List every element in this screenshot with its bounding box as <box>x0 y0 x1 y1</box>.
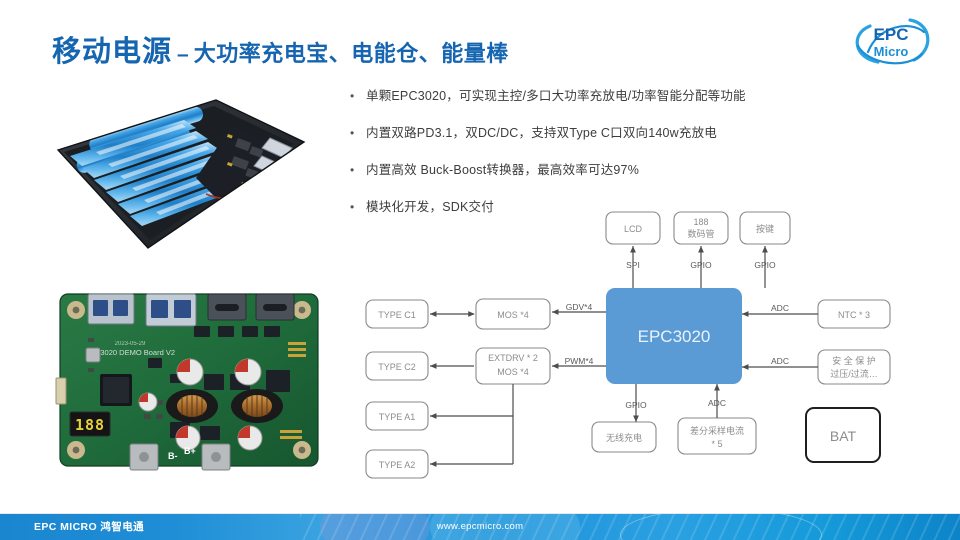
logo-text-epc: EPC <box>874 25 909 44</box>
block-label-current-line2: * 5 <box>711 439 722 449</box>
block-label-type-a1: TYPE A1 <box>379 412 416 422</box>
signal-label-gdv: GDV*4 <box>566 302 593 312</box>
signal-label-gpio-wireless: GPIO <box>625 400 647 410</box>
epc-micro-logo: EPC Micro <box>844 12 938 72</box>
pcb-segment-display-value: 188 <box>75 416 105 434</box>
block-label-extdrv-line1: EXTDRV * 2 <box>488 353 538 363</box>
slide-root: 移动电源–大功率充电宝、电能仓、能量棒 EPC Micro • 单颗EPC302… <box>0 0 960 540</box>
page-title-dash: – <box>172 43 194 67</box>
block-label-seg-line1: 188 <box>693 217 708 227</box>
page-title: 移动电源–大功率充电宝、电能仓、能量棒 <box>52 28 509 70</box>
block-label-bat: BAT <box>830 428 857 444</box>
signal-label-gpio-keys: GPIO <box>754 260 776 270</box>
bullet-marker: • <box>348 125 366 142</box>
block-label-type-a2: TYPE A2 <box>379 460 416 470</box>
demo-board-photo: 2023-05-29 EPC3020 DEMO Board V2 <box>52 282 332 480</box>
block-label-seg-line2: 数码管 <box>687 228 714 239</box>
pcb-silkscreen-date: 2023-05-29 <box>115 341 146 347</box>
bullet-text: 单颗EPC3020，可实现主控/多口大功率充放电/功率智能分配等功能 <box>366 88 746 105</box>
page-title-main: 移动电源 <box>52 28 172 70</box>
pcb-terminal-bminus: B- <box>168 451 178 461</box>
block-label-protect-line1: 安 全 保 护 <box>832 355 876 366</box>
block-label-ntc: NTC * 3 <box>838 310 870 320</box>
list-item: • 内置高效 Buck-Boost转换器，最高效率可达97% <box>348 162 868 179</box>
block-label-type-c2: TYPE C2 <box>378 362 416 372</box>
list-item: • 内置双路PD3.1，双DC/DC，支持双Type C口双向140w充放电 <box>348 125 868 142</box>
system-block-diagram: SPI GPIO GPIO GDV*4 PWM*4 ADC ADC GPIO A… <box>348 200 928 490</box>
block-label-protect-line2: 过压/过流… <box>830 368 878 379</box>
logo-text-micro: Micro <box>874 44 909 59</box>
block-label-epc3020: EPC3020 <box>638 327 711 346</box>
footer-website-url[interactable]: www.epcmicro.com <box>0 514 960 540</box>
block-label-type-c1: TYPE C1 <box>378 310 416 320</box>
bullet-marker: • <box>348 162 366 179</box>
footer-bar: EPC MICRO 鸿智电通 www.epcmicro.com <box>0 514 960 540</box>
bullet-marker: • <box>348 88 366 105</box>
signal-label-gpio-seg: GPIO <box>690 260 712 270</box>
block-label-extdrv-line2: MOS *4 <box>497 367 529 377</box>
block-label-mos4: MOS *4 <box>497 310 529 320</box>
bullet-text: 内置高效 Buck-Boost转换器，最高效率可达97% <box>366 162 639 179</box>
signal-label-pwm: PWM*4 <box>565 356 594 366</box>
bullet-text: 内置双路PD3.1，双DC/DC，支持双Type C口双向140w充放电 <box>366 125 717 142</box>
block-label-current-line1: 差分采样电流 <box>690 425 744 436</box>
page-title-sub: 大功率充电宝、电能仓、能量棒 <box>194 36 509 68</box>
block-label-keys: 按键 <box>756 223 774 234</box>
block-label-lcd: LCD <box>624 224 643 234</box>
block-label-wireless: 无线充电 <box>606 432 642 443</box>
signal-label-adc-current: ADC <box>708 398 726 408</box>
signal-label-adc-protect: ADC <box>771 356 789 366</box>
signal-label-spi: SPI <box>626 260 640 270</box>
pcb-terminal-bplus: B+ <box>184 446 196 456</box>
signal-label-adc-ntc: ADC <box>771 303 789 313</box>
battery-pack-photo <box>56 98 306 250</box>
list-item: • 单颗EPC3020，可实现主控/多口大功率充放电/功率智能分配等功能 <box>348 88 868 105</box>
